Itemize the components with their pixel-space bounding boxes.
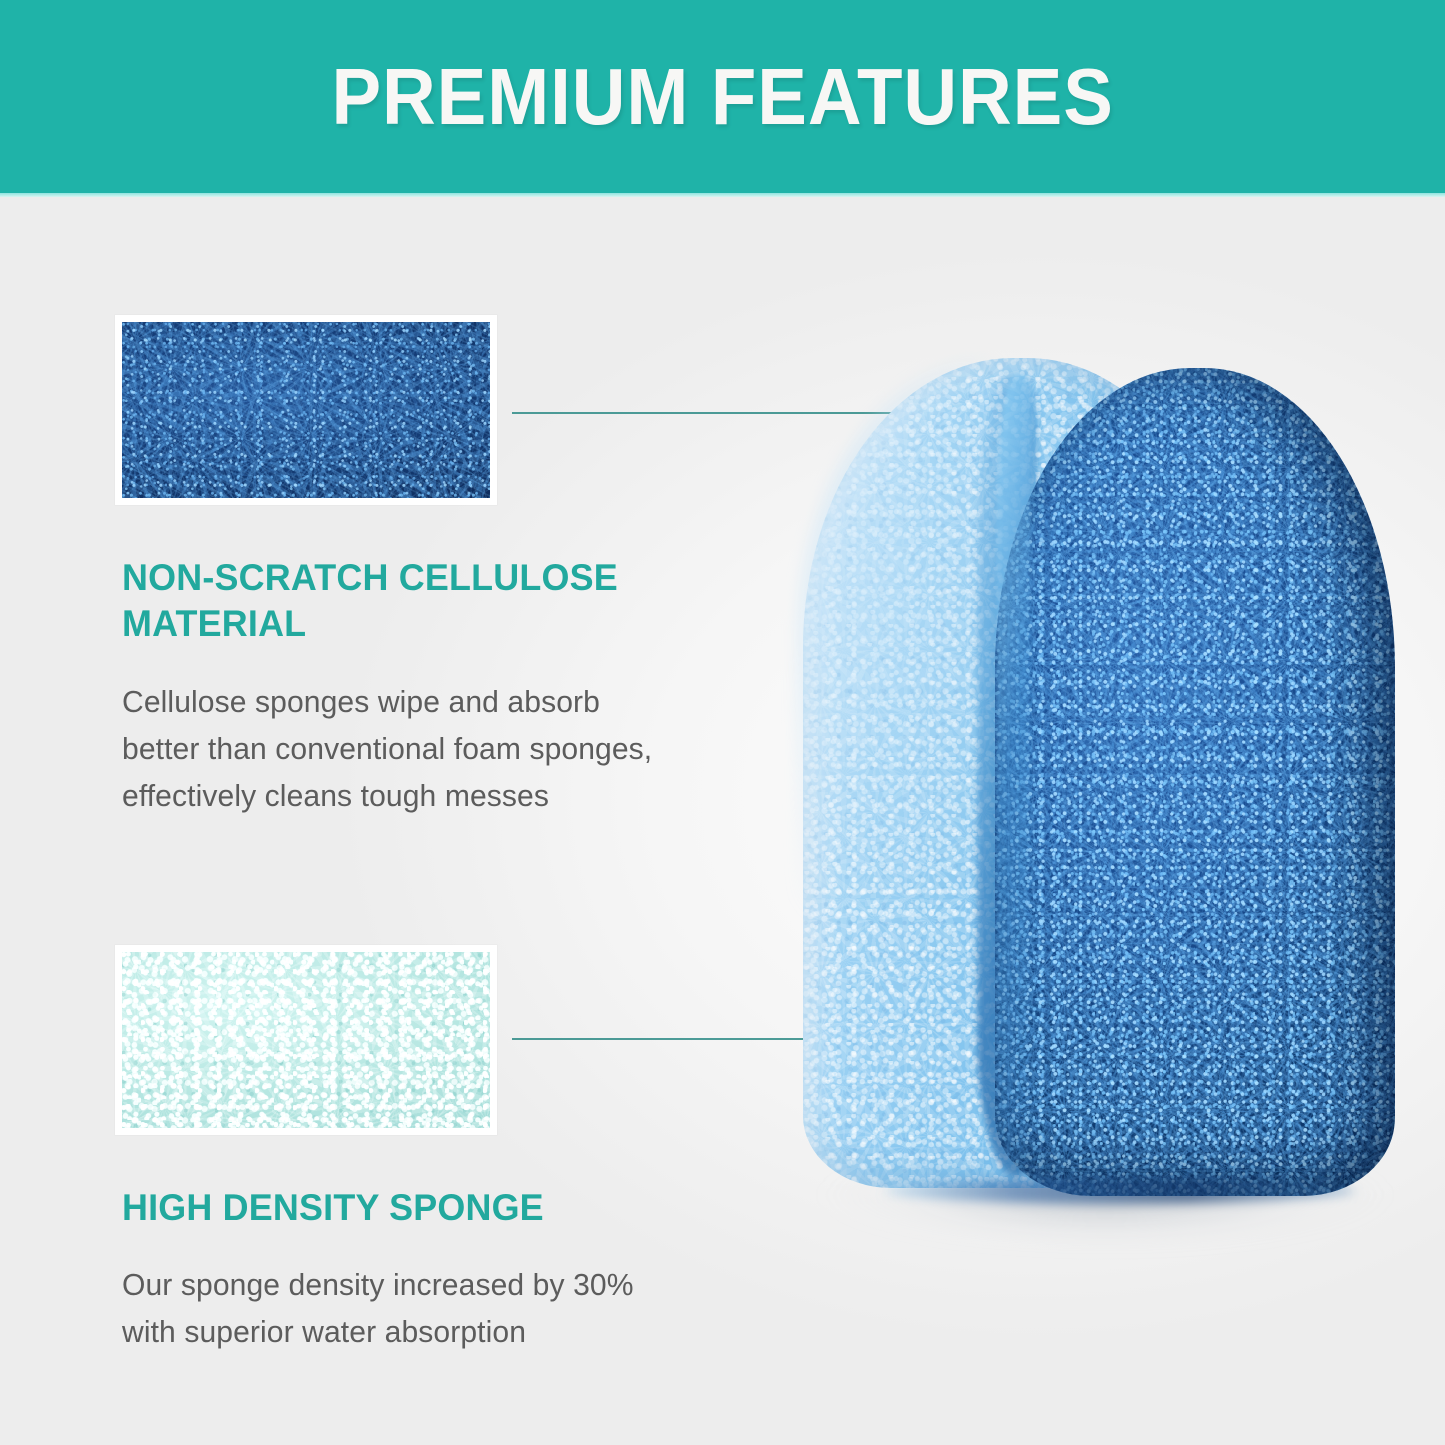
feature-heading-line: MATERIAL xyxy=(122,603,306,644)
foam-sponge-texture-image xyxy=(122,952,490,1128)
feature-body-line: effectively cleans tough messes xyxy=(122,772,801,819)
feature-swatch-non-scratch-cellulose xyxy=(115,315,497,505)
feature-heading: HIGH DENSITY SPONGE xyxy=(122,1185,820,1231)
feature-body-line: better than conventional foam sponges, xyxy=(122,725,801,772)
feature-heading: NON-SCRATCH CELLULOSE MATERIAL xyxy=(122,555,801,648)
feature-swatch-high-density-sponge xyxy=(115,945,497,1135)
feature-block-high-density-sponge: HIGH DENSITY SPONGE Our sponge density i… xyxy=(122,1185,842,1355)
feature-body-line: with superior water absorption xyxy=(122,1308,820,1355)
feature-body-line: Our sponge density increased by 30% xyxy=(122,1261,820,1308)
scrubber-fiber-texture-image xyxy=(122,322,490,498)
page-title: PREMIUM FEATURES xyxy=(331,57,1113,137)
feature-body: Cellulose sponges wipe and absorb better… xyxy=(122,678,801,819)
feature-body-line: Cellulose sponges wipe and absorb xyxy=(122,678,801,725)
premium-features-infographic: PREMIUM FEATURES NON-SCRATCH CELLULOSE M… xyxy=(0,0,1445,1445)
sponge-scrubber-layer xyxy=(995,368,1395,1196)
feature-heading-line: NON-SCRATCH CELLULOSE xyxy=(122,557,618,598)
feature-block-non-scratch-cellulose: NON-SCRATCH CELLULOSE MATERIAL Cellulose… xyxy=(122,555,822,819)
product-photo-sponge xyxy=(745,330,1445,1330)
header-banner: PREMIUM FEATURES xyxy=(0,0,1445,193)
feature-body: Our sponge density increased by 30% with… xyxy=(122,1261,820,1355)
feature-heading-line: HIGH DENSITY SPONGE xyxy=(122,1187,544,1228)
